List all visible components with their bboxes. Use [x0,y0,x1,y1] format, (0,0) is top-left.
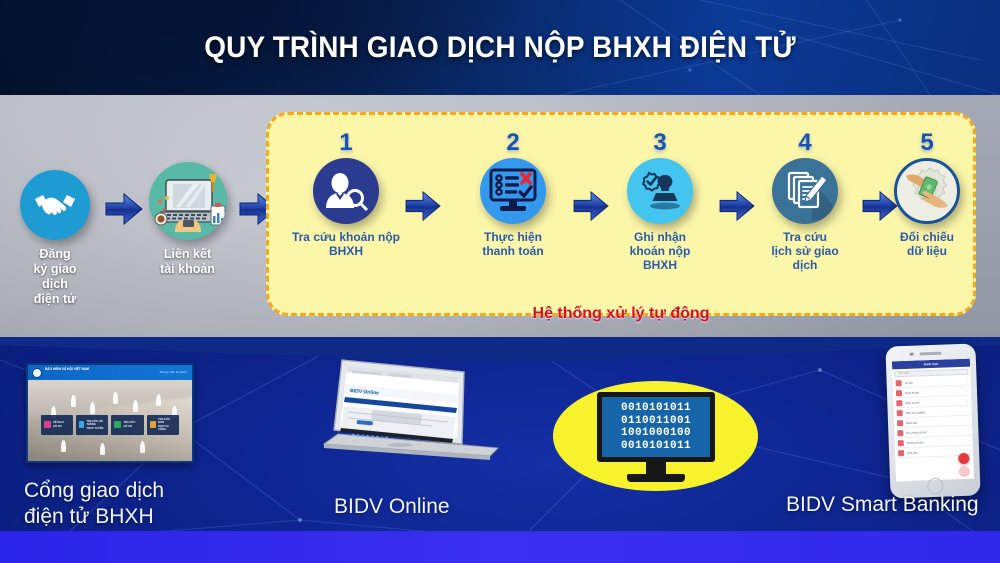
step-number: 1 [281,132,411,154]
intro-step-register[interactable]: Đăng ký giao dịch điện tử [10,170,100,307]
channel-caption-bidv-online: BIDV Online [334,494,450,520]
portal-tile[interactable]: TRA CỨU ĐƠN DỊCH VỤ CÔNG [147,415,179,435]
page-title: QUY TRÌNH GIAO DỊCH NỘP BHXH ĐIỆN TỬ [35,0,965,95]
data-monitor-screen: 0010101011 0110011001 1001000100 0010101… [597,392,715,462]
portal-tile[interactable]: TRA CỨU HỒ SƠ [111,415,143,435]
process-step-3[interactable]: 3 Ghi nhận khoản nộp BHXH [595,132,725,272]
gear-money-exchange-icon [894,158,960,224]
step-number: 4 [740,132,870,154]
laptop-work-icon [149,162,227,240]
intro-step-label: Liên kết tài khoản [140,247,235,277]
handshake-glyph [33,190,77,220]
laptop-work-glyph [149,162,227,240]
step-label: Tra cứu khoản nộp BHXH [281,230,411,258]
binary-row: 0010101011 [621,440,691,453]
step-label: Thực hiện thanh toán [448,230,578,258]
process-step-1[interactable]: 1 Tra cứu khoản nộp BHXH [281,132,411,258]
phone-chat-fab[interactable] [958,453,969,464]
bottom-accent-strip [0,531,1000,563]
step-label: Tra cứu lịch sử giao dịch [740,230,870,272]
process-step-4[interactable]: 4 Tra cứu lịch sử giao dịch [740,132,870,272]
phone-app-title: Danh mục [892,359,970,370]
auto-system-label: Hệ thống xử lý tự động [266,305,976,323]
portal-hero-image: KÊ KHAI HỒ SƠ TRA CỨU HỒ THÔNG TRỰC TUYẾ… [28,380,192,463]
portal-tile[interactable]: KÊ KHAI HỒ SƠ [41,415,73,435]
binary-row: 0010101011 [621,402,691,415]
step-label: Đối chiếu dữ liệu [862,230,992,258]
binary-row: 0110011001 [621,415,691,428]
channel-caption-smart-banking: BIDV Smart Banking [786,492,979,518]
step-number: 5 [862,132,992,154]
bidv-smart-banking-phone[interactable]: Danh mục Tìm kiếm Vé tàu› Giao thông› Dị… [885,343,980,498]
infographic-canvas: QUY TRÌNH GIAO DỊCH NỘP BHXH ĐIỆN TỬ Đăn… [0,0,1000,563]
phone-screen[interactable]: Danh mục Tìm kiếm Vé tàu› Giao thông› Dị… [892,359,974,482]
intro-step-label: Đăng ký giao dịch điện tử [10,247,100,307]
step-number: 3 [595,132,725,154]
bidv-online-laptop[interactable]: BIDV Online ▦ ▤ ▥ ◧ ◨ ▣ ▢ ◩ [312,352,502,472]
monitor-stand-base [627,474,685,482]
phone-speaker [920,352,942,355]
stamp-approved-icon [627,158,693,224]
step-label: Ghi nhận khoản nộp BHXH [595,230,725,272]
portal-service-tiles[interactable]: KÊ KHAI HỒ SƠ TRA CỨU HỒ THÔNG TRỰC TUYẾ… [41,415,179,435]
user-search-icon [313,158,379,224]
header-band: QUY TRÌNH GIAO DỊCH NỘP BHXH ĐIỆN TỬ [0,0,1000,95]
handshake-icon [20,170,90,240]
intro-step-link-account[interactable]: Liên kết tài khoản [140,162,235,277]
portal-brand: BẢO HIỂM XÃ HỘI VIỆT NAM [45,367,89,371]
phone-secondary-fab[interactable] [959,466,970,477]
process-step-2[interactable]: 2 Thực hiện thanh toán [448,132,578,258]
portal-logo-icon [32,368,42,378]
portal-tile[interactable]: TRA CỨU HỒ THÔNG TRỰC TUYẾN [76,415,108,435]
channel-caption-portal: Cổng giao dịch điện tử BHXH [24,478,164,530]
data-monitor: 0010101011 0110011001 1001000100 0010101… [597,392,715,484]
arrow-right-icon [404,190,442,227]
portal-nav[interactable]: Tiếng Việt English [159,370,187,374]
arrow-right-icon [104,192,144,231]
process-step-5[interactable]: 5 Đối chiếu dữ liệu [862,132,992,258]
bhxh-portal-screenshot[interactable]: BẢO HIỂM XÃ HỘI VIỆT NAM Tiếng Việt Engl… [26,363,194,463]
monitor-checklist-icon [480,158,546,224]
portal-header-bar: BẢO HIỂM XÃ HỘI VIỆT NAM Tiếng Việt Engl… [28,365,192,380]
documents-pen-icon [772,158,838,224]
step-number: 2 [448,132,578,154]
phone-camera-icon [910,352,914,356]
binary-row: 1001000100 [621,427,691,440]
